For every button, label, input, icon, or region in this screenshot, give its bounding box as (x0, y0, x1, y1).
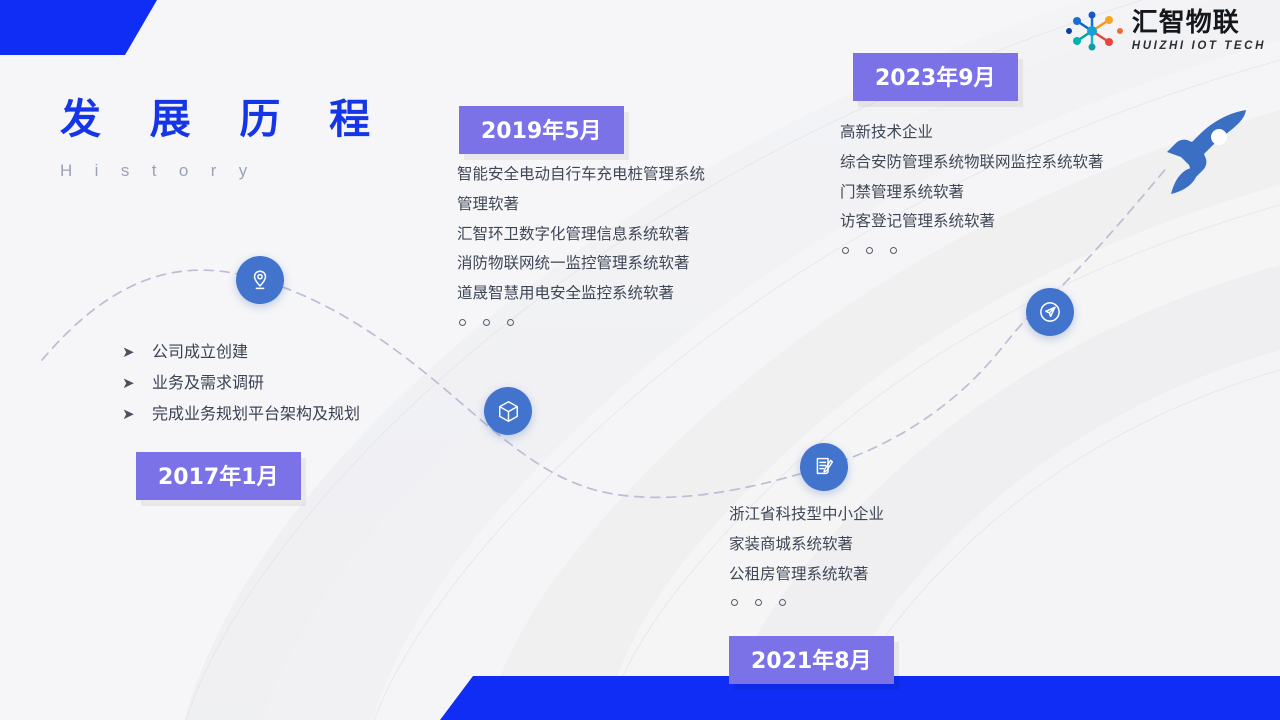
ellipsis-dots (729, 599, 884, 606)
milestone-date-badge-2019[interactable]: 2019年5月 (459, 106, 624, 154)
list-item-label: 业务及需求调研 (152, 373, 264, 392)
rocket-icon (1158, 104, 1258, 204)
list-item: 公租房管理系统软著 (729, 560, 884, 590)
list-item: 综合安防管理系统物联网监控系统软著 (840, 148, 1104, 178)
ellipsis-dots (840, 247, 1104, 254)
logo-name-cn: 汇智物联 (1132, 10, 1266, 36)
milestone-2017-items: ➤ 公司成立创建 ➤ 业务及需求调研 ➤ 完成业务规划平台架构及规划 (122, 342, 360, 436)
timeline-node-2023[interactable] (1026, 288, 1074, 336)
arrow-bullet-icon: ➤ (122, 345, 152, 360)
cube-box-icon (496, 399, 521, 424)
list-item-label: 公司成立创建 (152, 342, 248, 361)
list-item: ➤ 完成业务规划平台架构及规划 (122, 404, 360, 423)
list-item: 汇智环卫数字化管理信息系统软著 (457, 220, 705, 250)
milestone-date-badge-2023[interactable]: 2023年9月 (853, 53, 1018, 101)
location-pin-icon (248, 268, 272, 292)
list-item: 消防物联网统一监控管理系统软著 (457, 249, 705, 279)
list-item-label: 完成业务规划平台架构及规划 (152, 404, 360, 423)
list-item: ➤ 公司成立创建 (122, 342, 360, 361)
arrow-bullet-icon: ➤ (122, 407, 152, 422)
paper-plane-icon (1037, 299, 1063, 325)
page-title-group: 发 展 历 程 H i s t o r y (60, 96, 387, 181)
milestone-date-badge-2021[interactable]: 2021年8月 (729, 636, 894, 684)
list-item: 道晟智慧用电安全监控系统软著 (457, 279, 705, 309)
timeline-node-2019[interactable] (484, 387, 532, 435)
milestone-2021-items: 浙江省科技型中小企业 家装商城系统软著 公租房管理系统软著 (729, 500, 884, 606)
page-subtitle: H i s t o r y (60, 161, 387, 181)
timeline-node-2021[interactable] (800, 443, 848, 491)
molecule-network-icon (1066, 10, 1124, 52)
list-item: 访客登记管理系统软著 (840, 207, 1104, 237)
logo-name-en: HUIZHI IOT TECH (1132, 41, 1266, 53)
list-item: ➤ 业务及需求调研 (122, 373, 360, 392)
ellipsis-dots (457, 319, 705, 326)
slide-canvas: 发 展 历 程 H i s t o r y 汇智物联 H (0, 0, 1280, 720)
milestone-date-badge-2017[interactable]: 2017年1月 (136, 452, 301, 500)
list-item: 高新技术企业 (840, 118, 1104, 148)
page-title: 发 展 历 程 (60, 96, 387, 143)
list-item: 浙江省科技型中小企业 (729, 500, 884, 530)
list-item: 智能安全电动自行车充电桩管理系统 (457, 160, 705, 190)
company-logo: 汇智物联 HUIZHI IOT TECH (1066, 10, 1266, 53)
list-item: 门禁管理系统软著 (840, 178, 1104, 208)
list-item: 家装商城系统软著 (729, 530, 884, 560)
list-item: 管理软著 (457, 190, 705, 220)
milestone-2023-items: 高新技术企业 综合安防管理系统物联网监控系统软著 门禁管理系统软著 访客登记管理… (840, 118, 1104, 254)
timeline-node-2017[interactable] (236, 256, 284, 304)
document-edit-icon (812, 455, 837, 480)
arrow-bullet-icon: ➤ (122, 376, 152, 391)
milestone-2019-items: 智能安全电动自行车充电桩管理系统 管理软著 汇智环卫数字化管理信息系统软著 消防… (457, 160, 705, 326)
